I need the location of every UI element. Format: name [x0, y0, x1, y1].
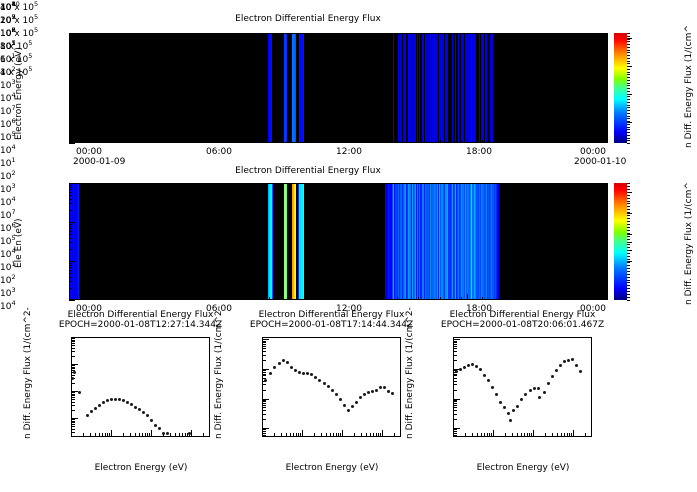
bottom-0-xtick-minor [105, 433, 106, 437]
ytick-minor [69, 185, 72, 186]
bottom-0-ytick-minor [71, 345, 75, 346]
bottom-1-xtick-minor [314, 433, 315, 437]
bottom-0-ytick-minor [71, 424, 75, 425]
colorbar-minor-tick [627, 244, 630, 245]
data-point [491, 386, 494, 389]
data-point [294, 369, 297, 372]
bottom-0-xtick-minor [139, 433, 140, 437]
data-point [575, 364, 578, 367]
bottom-1-xtick-minor [394, 433, 395, 437]
colorbar-minor-tick [627, 256, 630, 257]
ytick-minor [69, 81, 72, 82]
bottom-1-xtick-minor [326, 433, 327, 437]
ytick-minor [69, 267, 72, 268]
data-point [475, 365, 478, 368]
bottom-panel-0-ylabel: n Diff. Energy Flux (1/(cm^2- [23, 307, 33, 439]
colorbar-minor-tick [627, 236, 630, 237]
bottom-2-xtick-minor [571, 433, 572, 437]
ytick-minor [69, 39, 72, 40]
xtick-minor [248, 140, 249, 143]
bottom-0-xtick-minor [123, 433, 124, 437]
colorbar-minor-tick [627, 44, 630, 45]
bottom-2-ytick-minor [453, 374, 457, 375]
bottom-0-ytick-minor [71, 399, 75, 400]
xtick-major [207, 137, 208, 143]
data-point [567, 359, 570, 362]
xtick-minor [120, 140, 121, 143]
bottom-2-xtick [533, 430, 534, 437]
data-point [73, 371, 76, 374]
colorbar-tick-label: 6 x 105 [0, 52, 38, 65]
bottom-1-ytick-minor [262, 374, 266, 375]
bottom-2-xtick-minor [477, 433, 478, 437]
bottom-0-xtick-minor [175, 433, 176, 437]
data-point [327, 385, 330, 388]
ytick-minor [69, 210, 72, 211]
ytick-minor [69, 78, 72, 79]
bottom-1-xtick-minor [380, 433, 381, 437]
bottom-1-ytick-minor [262, 351, 266, 352]
bottom-2-xtick-minor [484, 433, 485, 437]
colorbar-minor-tick [627, 192, 630, 193]
bottom-2-xtick-minor [517, 433, 518, 437]
bottom-0-ytick-minor [71, 356, 75, 357]
colorbar-minor-tick [627, 209, 630, 210]
bottom-0-xtick [151, 430, 152, 437]
xtick-minor [461, 297, 462, 300]
xtick-minor [333, 140, 334, 143]
colorbar-minor-tick [627, 201, 630, 202]
ytick-minor [69, 110, 72, 111]
data-point [563, 360, 566, 363]
bottom-2-ytick-minor [453, 346, 457, 347]
bottom-1-ytick-minor [262, 355, 266, 356]
colorbar-minor-tick [627, 83, 630, 84]
data-point [343, 404, 346, 407]
ytick-minor [69, 234, 72, 235]
bottom-2-xtick-minor [552, 433, 553, 437]
data-point [264, 379, 267, 382]
bottom-2-ytick-minor [453, 419, 457, 420]
xtick-minor [546, 140, 547, 143]
colorbar-minor-tick [627, 206, 630, 207]
bottom-2-xtick-minor [524, 433, 525, 437]
bottom-0-xtick-minor [203, 433, 204, 437]
ytick-minor [69, 112, 72, 113]
xtick-minor [568, 140, 569, 143]
ytick-minor [69, 59, 72, 60]
top-xtick-4: 00:00 [580, 147, 606, 157]
xtick-minor [312, 297, 313, 300]
bottom-1-ytick-minor [262, 419, 266, 420]
xtick-minor [141, 140, 142, 143]
bottom-0-xtick-minor [107, 433, 108, 437]
figure-root: Electron Differential Energy Flux 104103… [0, 0, 697, 492]
bottom-1-xtick-minor [330, 433, 331, 437]
colorbar-minor-tick [627, 221, 630, 222]
bottom-1-ytick-minor [262, 400, 266, 401]
colorbar-minor-tick [627, 50, 630, 51]
ytick-minor [69, 37, 72, 38]
data-point [471, 363, 474, 366]
colorbar-minor-tick [627, 271, 630, 272]
bottom-1-ytick-minor [262, 348, 266, 349]
colorbar-minor-tick [627, 80, 630, 81]
colorbar-tick-label: 10 x 105 [0, 26, 38, 39]
xtick-minor [98, 140, 99, 143]
data-point [551, 375, 554, 378]
ytick-minor [69, 35, 72, 36]
xtick-minor [248, 297, 249, 300]
bottom-1-xtick-minor [338, 433, 339, 437]
bottom-panel-0-xlabel: Electron Energy (eV) [51, 463, 231, 473]
xtick-minor [418, 297, 419, 300]
bottom-0-ytick-minor [71, 368, 75, 369]
bottom-1-ytick-minor [262, 407, 266, 408]
colorbar-minor-tick [627, 183, 630, 184]
bottom-0-ytick-minor [71, 410, 75, 411]
colorbar-minor-tick [627, 52, 630, 53]
bottom-0-ytick-minor [71, 422, 75, 423]
data-point [188, 432, 191, 435]
colorbar-minor-tick [627, 124, 630, 125]
colorbar-tick-label: 20 x 105 [0, 13, 38, 26]
data-point [371, 390, 374, 393]
bottom-1-xtick-minor [354, 433, 355, 437]
colorbar-minor-tick [627, 47, 630, 48]
colorbar-minor-tick [627, 135, 630, 136]
colorbar-minor-tick [627, 72, 630, 73]
bottom-1-xtick-minor [300, 433, 301, 437]
xtick-minor [162, 140, 163, 143]
bottom-panel-2-title: Electron Differential Energy Flux [391, 310, 654, 320]
colorbar-minor-tick [627, 239, 630, 240]
bottom-1-xtick [262, 430, 263, 437]
top-xtick-3: 18:00 [466, 147, 492, 157]
ytick-minor [69, 187, 72, 188]
colorbar-minor-tick [627, 129, 630, 130]
xtick-minor [226, 297, 227, 300]
data-point [359, 396, 362, 399]
ytick-minor [69, 265, 72, 266]
bottom-0-xtick-minor [149, 433, 150, 437]
bottom-0-xtick [191, 430, 192, 437]
colorbar-tick-label: 40 x 105 [0, 0, 38, 13]
ytick-major [69, 300, 75, 301]
ytick-minor [69, 249, 72, 250]
xtick-minor [568, 297, 569, 300]
ytick-minor [69, 44, 72, 45]
data-point [483, 374, 486, 377]
colorbar-minor-tick [627, 282, 630, 283]
colorbar-minor-tick [627, 55, 630, 56]
bottom-panel-1-ylabel: n Diff. Energy Flux (1/(cm^2- [214, 307, 224, 439]
mid-colorbar [614, 183, 627, 300]
bottom-1-ytick-minor [262, 375, 266, 376]
bottom-1-xtick-minor [376, 433, 377, 437]
xtick-minor [162, 297, 163, 300]
data-point [367, 391, 370, 394]
xtick-minor [269, 297, 270, 300]
xtick-minor [226, 140, 227, 143]
ytick-minor [69, 73, 72, 74]
top-panel-title: Electron Differential Energy Flux [0, 14, 616, 24]
bottom-0-ytick-minor [71, 392, 75, 393]
bottom-1-ytick-minor [262, 342, 266, 343]
xtick-minor [77, 297, 78, 300]
colorbar-minor-tick [627, 285, 630, 286]
bottom-1-ytick-minor [262, 403, 266, 404]
data-point [302, 372, 305, 375]
colorbar-minor-tick [627, 294, 630, 295]
bottom-1-ytick-minor [262, 384, 266, 385]
bottom-1-xtick-minor [296, 433, 297, 437]
data-point [383, 386, 386, 389]
bottom-0-xtick [111, 430, 112, 437]
colorbar-minor-tick [627, 247, 630, 248]
xtick-minor [205, 297, 206, 300]
xtick-minor [461, 140, 462, 143]
bottom-1-xtick-minor [321, 433, 322, 437]
ytick-minor [69, 48, 72, 49]
colorbar-minor-tick [627, 280, 630, 281]
colorbar-minor-tick [627, 227, 630, 228]
colorbar-minor-tick [627, 250, 630, 251]
data-point [487, 379, 490, 382]
data-point [323, 382, 326, 385]
bottom-1-ytick-minor [262, 410, 266, 411]
colorbar-minor-tick [627, 33, 630, 34]
mid-panel-ylabel: Ele En (eV) [14, 218, 24, 268]
colorbar-minor-tick [627, 218, 630, 219]
colorbar-minor-tick [627, 291, 630, 292]
colorbar-minor-tick [627, 242, 630, 243]
bottom-1-xtick-minor [340, 433, 341, 437]
colorbar-minor-tick [627, 77, 630, 78]
colorbar-minor-tick [627, 61, 630, 62]
colorbar-minor-tick [627, 58, 630, 59]
xtick-minor [205, 140, 206, 143]
xtick-minor [589, 297, 590, 300]
data-point [86, 414, 89, 417]
colorbar-minor-tick [627, 203, 630, 204]
bottom-1-ytick-minor [262, 414, 266, 415]
bottom-0-ytick-minor [71, 367, 75, 368]
mid-spectrogram-frame [69, 183, 608, 300]
bottom-2-xtick-minor [512, 433, 513, 437]
bottom-0-xtick-minor [185, 433, 186, 437]
bottom-2-ytick-minor [453, 410, 457, 411]
data-point [543, 391, 546, 394]
bottom-0-xtick-minor [99, 433, 100, 437]
colorbar-minor-tick [627, 143, 630, 144]
bottom-0-ytick-minor [71, 365, 75, 366]
ytick-minor [69, 238, 72, 239]
bottom-0-ytick-minor [71, 395, 75, 396]
mid-colorbar-ticks: 40 x 10520 x 10510 x 1058 x 1056 x 1054 … [0, 0, 38, 78]
colorbar-minor-tick [627, 265, 630, 266]
xtick-minor [482, 297, 483, 300]
colorbar-minor-tick [627, 85, 630, 86]
data-point [479, 368, 482, 371]
bottom-2-xtick-minor [489, 433, 490, 437]
bottom-0-ytick-minor [71, 421, 75, 422]
colorbar-minor-tick [627, 36, 630, 37]
colorbar-minor-tick [627, 116, 630, 117]
colorbar-minor-tick [627, 268, 630, 269]
bottom-2-ytick-minor [453, 344, 457, 345]
xtick-major [207, 294, 208, 300]
bottom-0-ytick-minor [71, 383, 75, 384]
colorbar-tick-label: 4 x 105 [0, 65, 38, 78]
bottom-0-xtick-minor [145, 433, 146, 437]
colorbar-minor-tick [627, 300, 630, 301]
bottom-2-ytick-minor [453, 378, 457, 379]
bottom-0-ytick-minor [71, 397, 75, 398]
bottom-0-xtick-minor [130, 433, 131, 437]
bottom-1-xtick-minor [336, 433, 337, 437]
bottom-panel-2-ylabel: n Diff. Energy Flux (1/(cm^2- [405, 307, 415, 439]
colorbar-minor-tick [627, 66, 630, 67]
colorbar-minor-tick [627, 105, 630, 106]
bottom-1-xtick-minor [286, 433, 287, 437]
bottom-2-xtick-minor [487, 433, 488, 437]
bottom-0-ytick-minor [71, 343, 75, 344]
bottom-1-xtick-minor [361, 433, 362, 437]
bottom-2-xtick-minor [545, 433, 546, 437]
data-point [98, 404, 101, 407]
data-point [363, 393, 366, 396]
xtick-minor [525, 140, 526, 143]
xtick-minor [397, 297, 398, 300]
ytick-minor [69, 84, 72, 85]
bottom-1-ytick-minor [262, 360, 266, 361]
data-point [559, 364, 562, 367]
xtick-minor [333, 297, 334, 300]
bottom-1-ytick-minor [262, 372, 266, 373]
colorbar-minor-tick [627, 233, 630, 234]
ytick-minor [69, 199, 72, 200]
colorbar-minor-tick [627, 288, 630, 289]
data-point [335, 393, 338, 396]
colorbar-minor-tick [627, 69, 630, 70]
top-xtick-2: 12:00 [336, 147, 362, 157]
colorbar-minor-tick [627, 99, 630, 100]
bottom-0-xtick-minor [170, 433, 171, 437]
xtick-major [467, 294, 468, 300]
bottom-1-xtick-minor [281, 433, 282, 437]
ytick-minor [69, 75, 72, 76]
ytick-minor [69, 231, 72, 232]
bottom-1-xtick [382, 430, 383, 437]
bottom-1-ytick-minor [262, 401, 266, 402]
xtick-minor [376, 297, 377, 300]
bottom-1-xtick [302, 430, 303, 437]
bottom-1-xtick-minor [378, 433, 379, 437]
data-point [463, 366, 466, 369]
ytick-minor [69, 121, 72, 122]
data-point [331, 389, 334, 392]
ytick-minor [69, 224, 72, 225]
bottom-2-xtick-minor [481, 433, 482, 437]
colorbar-minor-tick [627, 74, 630, 75]
xtick-minor [589, 140, 590, 143]
colorbar-minor-tick [627, 195, 630, 196]
xtick-minor [440, 297, 441, 300]
xtick-minor [504, 140, 505, 143]
ytick-minor [69, 281, 72, 282]
colorbar-minor-tick [627, 262, 630, 263]
bottom-2-ytick-minor [453, 390, 457, 391]
colorbar-minor-tick [627, 186, 630, 187]
colorbar-minor-tick [627, 127, 630, 128]
colorbar-minor-tick [627, 94, 630, 95]
bottom-0-ytick-minor [71, 405, 75, 406]
bottom-0-ytick-minor [71, 338, 75, 339]
ytick-minor [69, 117, 72, 118]
top-spectrogram-frame [69, 33, 608, 143]
xtick-minor [141, 297, 142, 300]
data-point [495, 393, 498, 396]
xtick-minor [354, 297, 355, 300]
bottom-1-ytick-minor [262, 370, 266, 371]
bottom-2-xtick-minor [557, 433, 558, 437]
ytick-minor [69, 270, 72, 271]
bottom-1-ytick-minor [262, 346, 266, 347]
ytick-minor [69, 189, 72, 190]
bottom-0-xtick-minor [83, 433, 84, 437]
colorbar-minor-tick [627, 224, 630, 225]
bottom-0-ytick-minor [71, 375, 75, 376]
ytick-minor [69, 273, 72, 274]
colorbar-minor-tick [627, 63, 630, 64]
colorbar-minor-tick [627, 110, 630, 111]
xtick-minor [418, 140, 419, 143]
bottom-0-ytick-minor [71, 394, 75, 395]
data-point [555, 369, 558, 372]
ytick-minor [69, 95, 72, 96]
bottom-2-xtick [453, 430, 454, 437]
colorbar-minor-tick [627, 189, 630, 190]
xtick-minor [397, 140, 398, 143]
data-point [467, 364, 470, 367]
ytick-minor [69, 226, 72, 227]
bottom-2-xtick-minor [529, 433, 530, 437]
bottom-1-xtick-minor [290, 433, 291, 437]
data-point [78, 391, 81, 394]
bottom-0-ytick-minor [71, 340, 75, 341]
xtick-minor [546, 297, 547, 300]
bottom-2-ytick-minor [453, 403, 457, 404]
bottom-0-xtick-minor [90, 433, 91, 437]
bottom-2-ytick-minor [453, 401, 457, 402]
xtick-minor [440, 140, 441, 143]
ytick-minor [69, 288, 72, 289]
bottom-1-xtick-minor [373, 433, 374, 437]
data-point [347, 409, 350, 412]
xtick-major [337, 137, 338, 143]
bottom-2-xtick-minor [521, 433, 522, 437]
ytick-minor [69, 132, 72, 133]
bottom-2-ytick-minor [453, 405, 457, 406]
bottom-2-xtick-minor [472, 433, 473, 437]
data-point [459, 368, 462, 371]
xtick-minor [504, 297, 505, 300]
xtick-minor [120, 297, 121, 300]
data-point [290, 366, 293, 369]
bottom-2-xtick [573, 430, 574, 437]
colorbar-minor-tick [627, 132, 630, 133]
